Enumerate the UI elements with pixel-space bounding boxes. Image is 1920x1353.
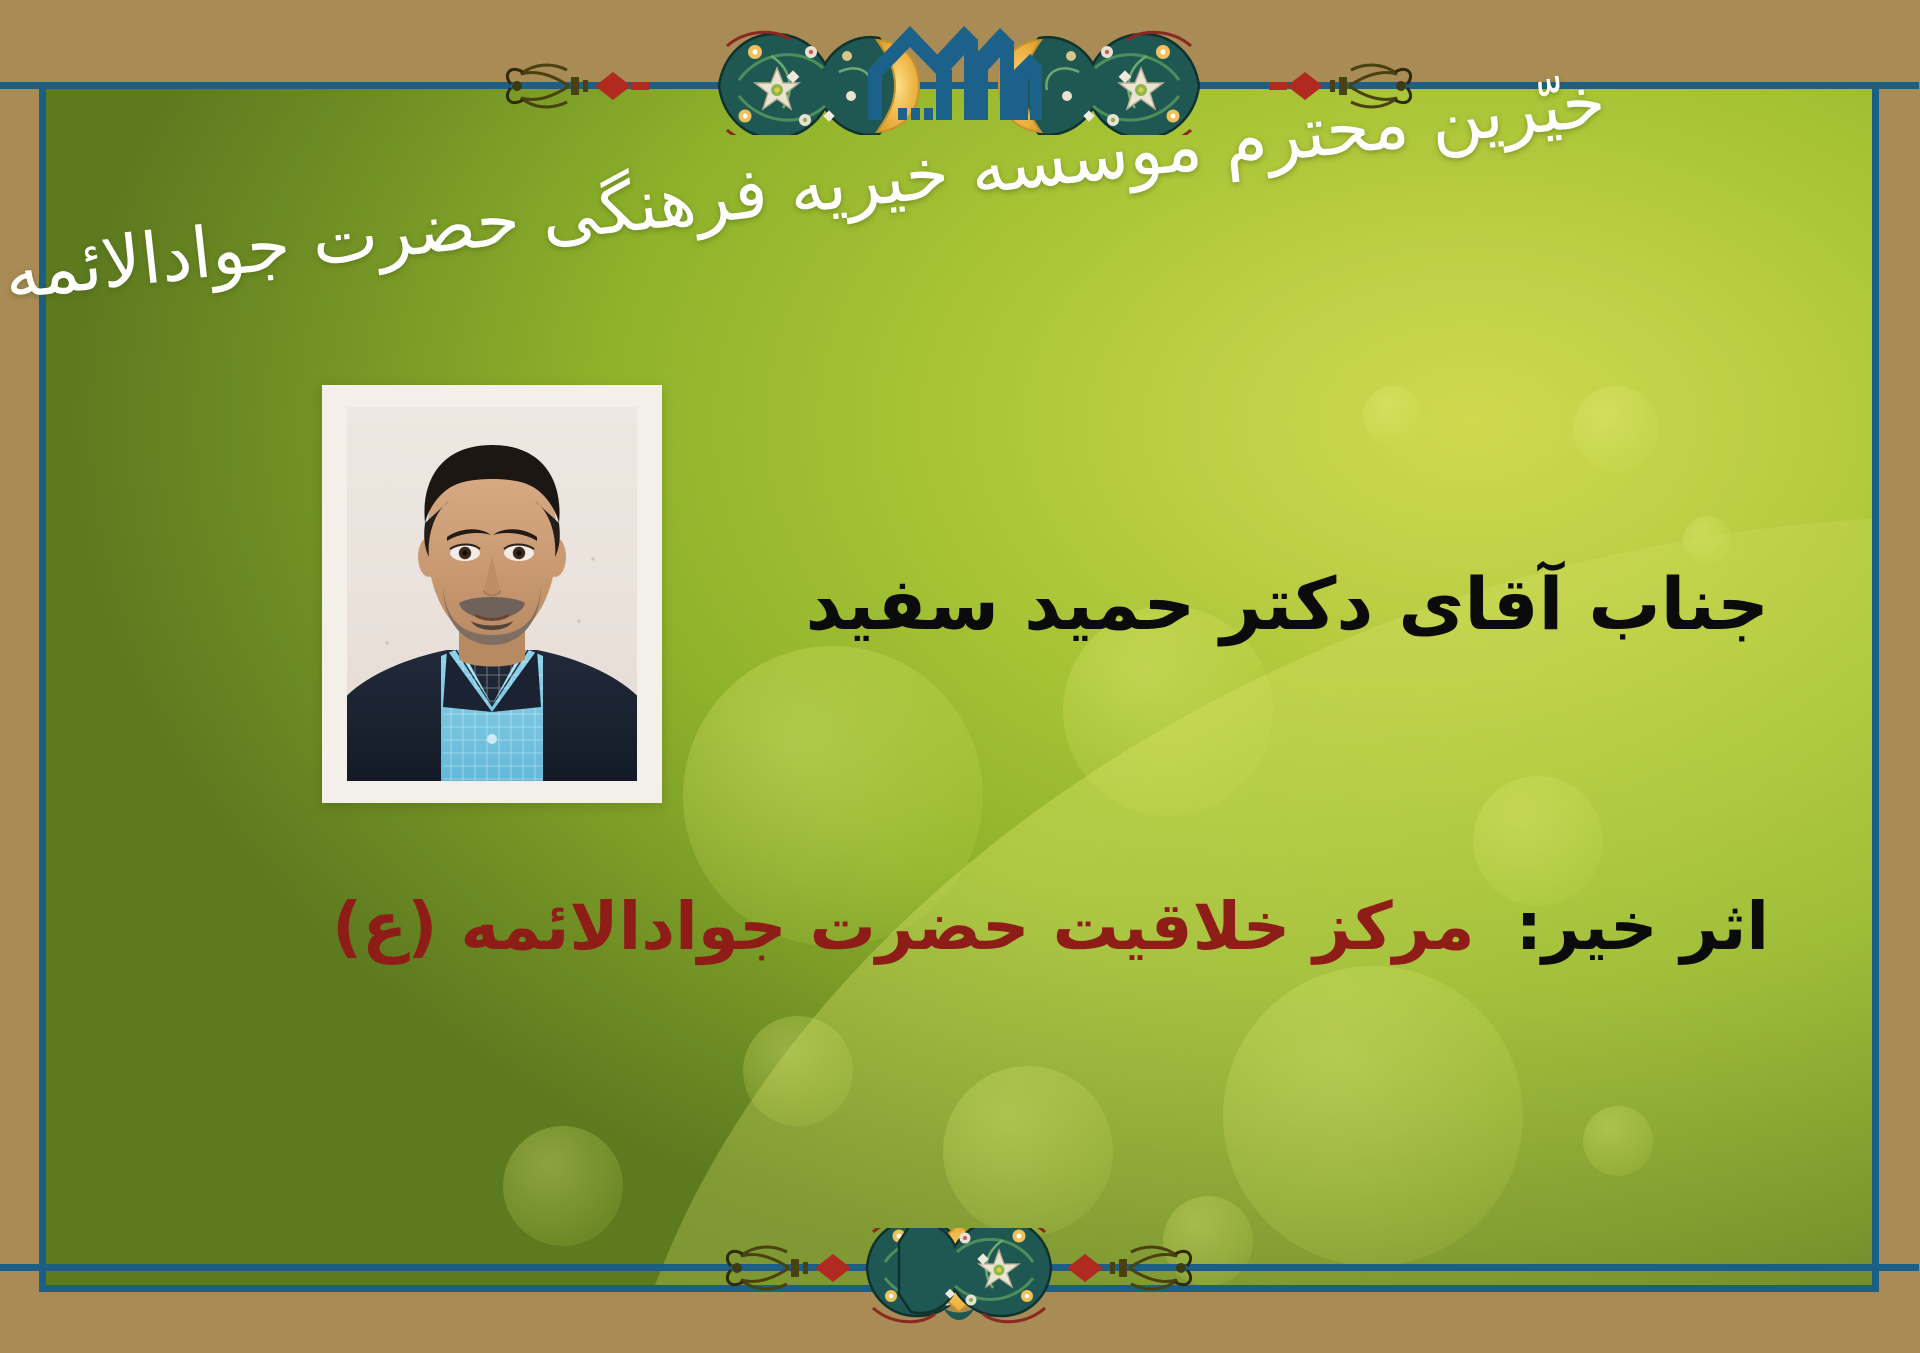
portrait-illustration bbox=[348, 407, 638, 781]
javad-al-aemeh-institute-logo bbox=[865, 8, 1055, 130]
donation-label: اثر خیر: bbox=[1517, 888, 1770, 965]
honoree-photo bbox=[348, 407, 638, 781]
donation-value: مرکز خلاقیت حضرت جوادالائمه (ع) bbox=[333, 888, 1476, 965]
certificate-outer-frame: خیّرین محترم موسسه خیریه فرهنگی حضرت جوا… bbox=[0, 0, 1920, 1353]
honoree-name: جناب آقای دکتر حمید سفید bbox=[806, 562, 1770, 646]
honoree-photo-frame bbox=[323, 385, 663, 803]
donation-line: اثر خیر: مرکز خلاقیت حضرت جوادالائمه (ع) bbox=[333, 888, 1770, 965]
